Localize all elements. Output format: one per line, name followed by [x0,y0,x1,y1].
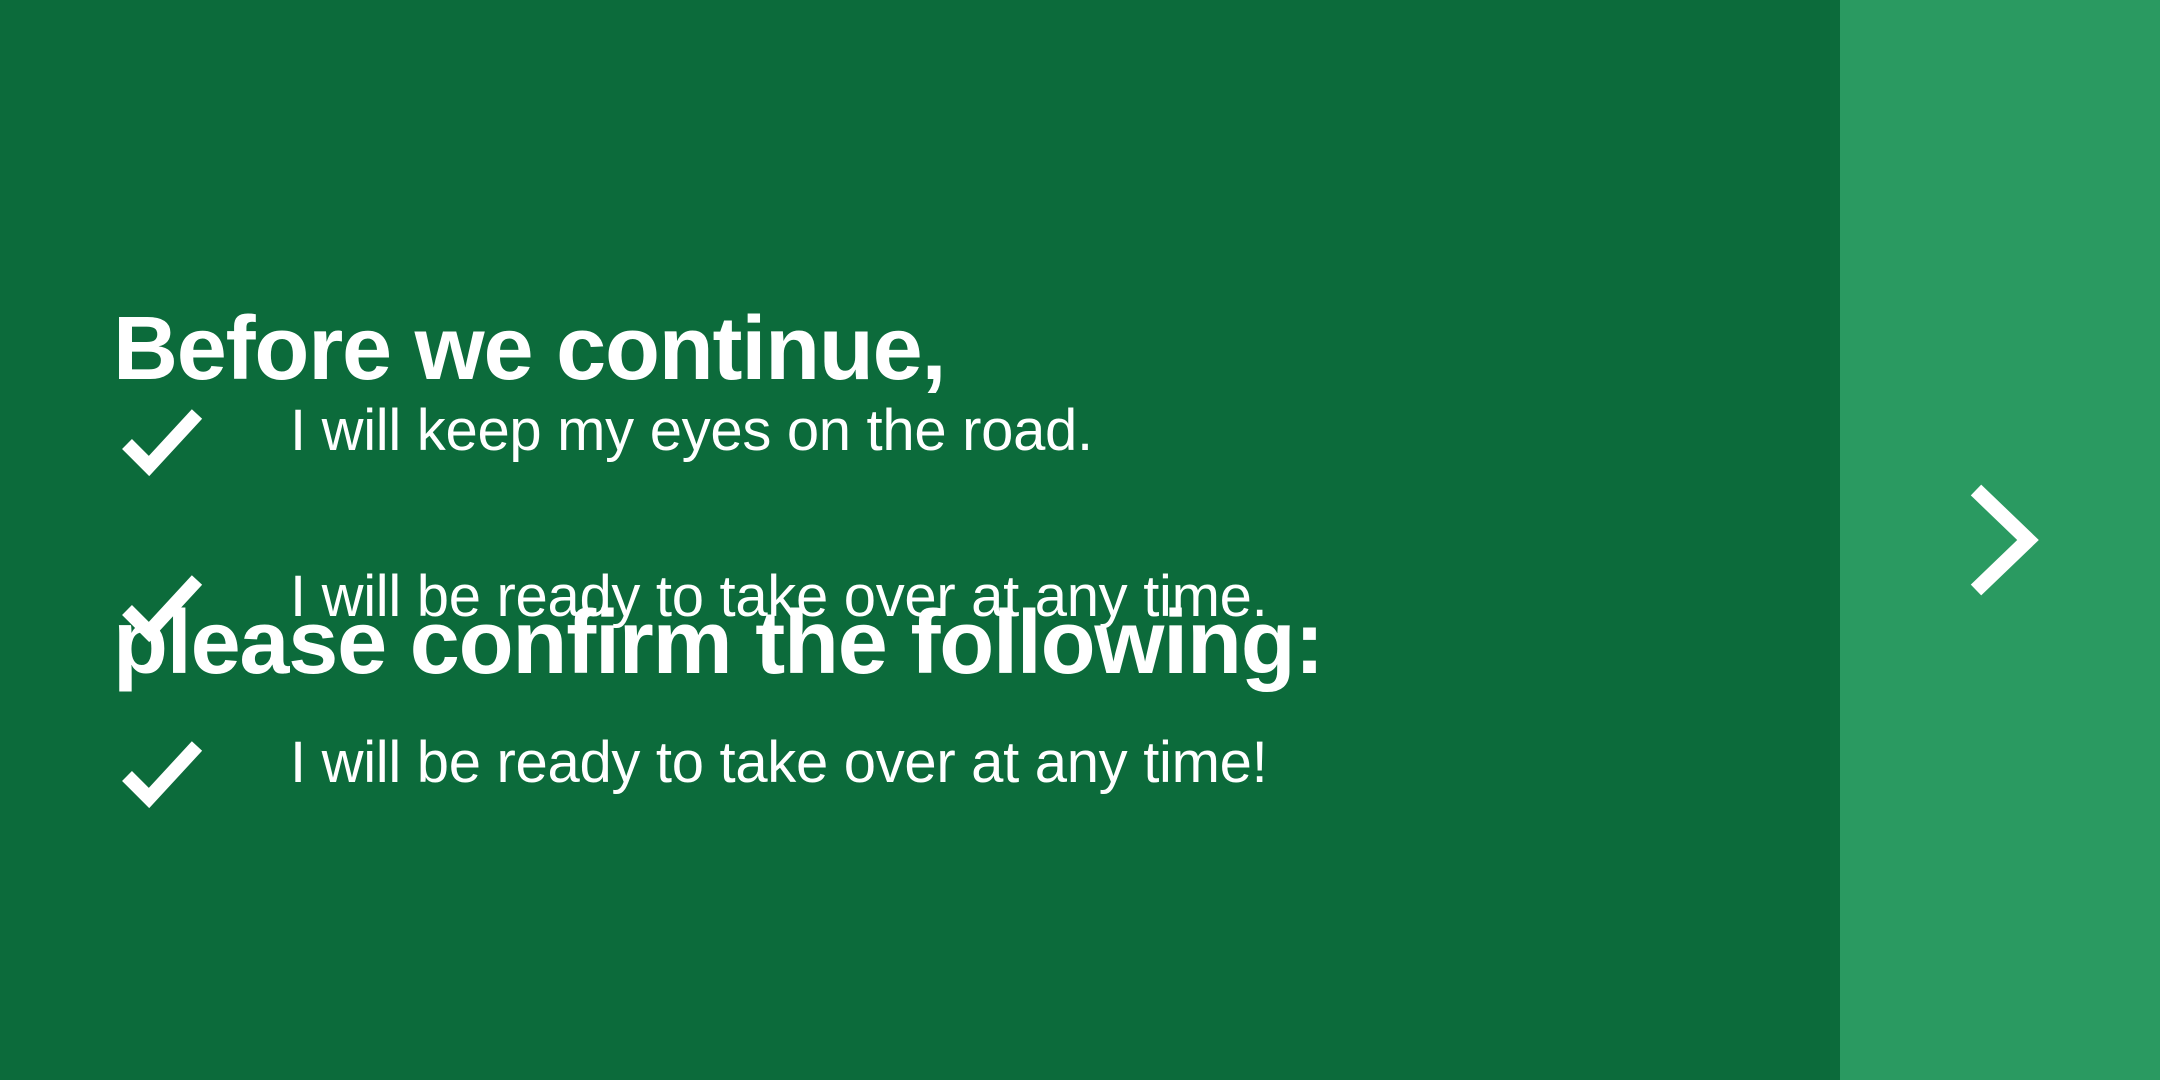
checklist-item[interactable]: I will be ready to take over at any time… [113,728,1713,894]
checklist-item[interactable]: I will keep my eyes on the road. [113,396,1713,562]
main-panel: Before we continue, please confirm the f… [0,0,1840,1080]
chevron-right-icon [1955,480,2045,600]
checklist-item-label: I will be ready to take over at any time… [290,728,1267,798]
confirmation-checklist: I will keep my eyes on the road. I will … [113,396,1713,894]
checklist-item-label: I will keep my eyes on the road. [290,396,1093,466]
page-title-line-1: Before we continue, [113,300,1323,398]
checklist-item[interactable]: I will be ready to take over at any time… [113,562,1713,728]
checkmark-icon [113,398,209,494]
checkmark-icon [113,730,209,826]
next-button[interactable] [1840,0,2160,1080]
checklist-item-label: I will be ready to take over at any time… [290,562,1267,632]
checkmark-icon [113,564,209,660]
confirmation-screen: Before we continue, please confirm the f… [0,0,2160,1080]
